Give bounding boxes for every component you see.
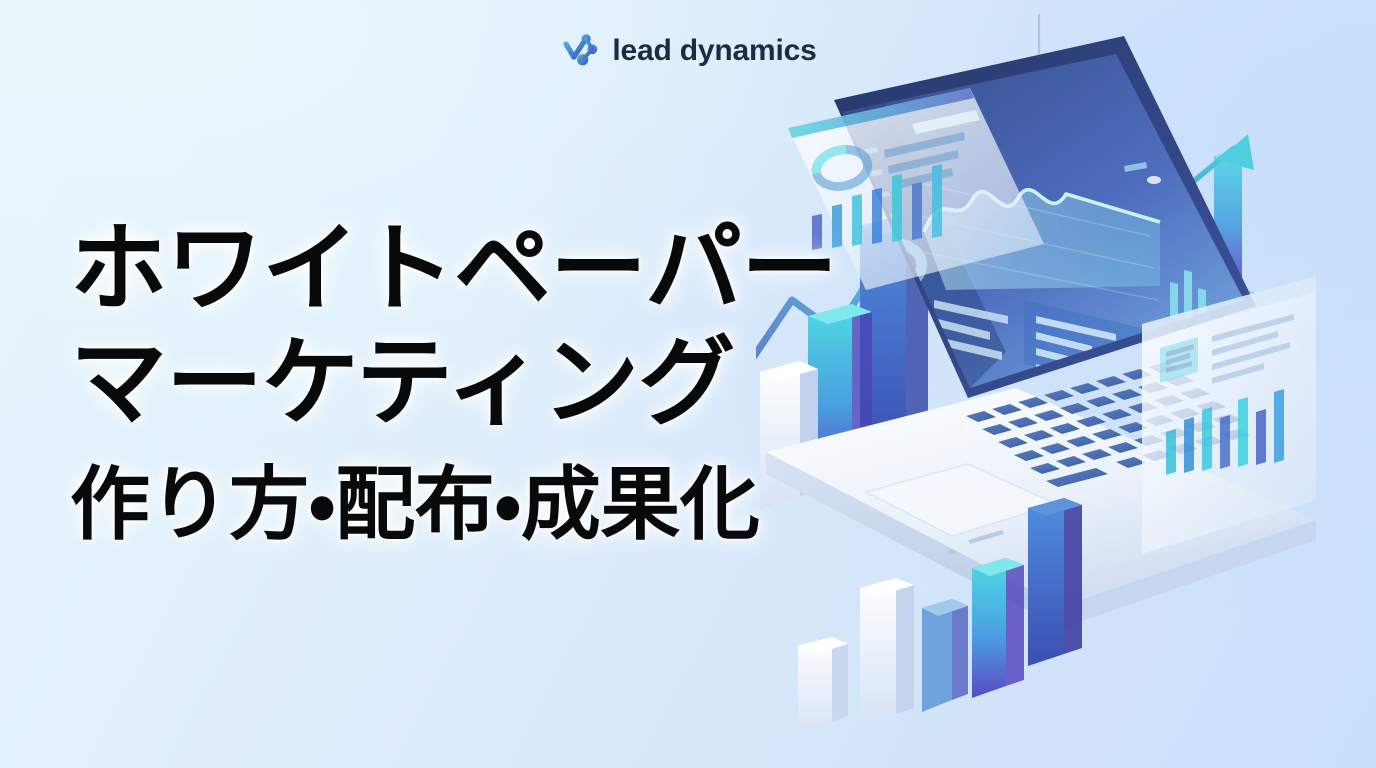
title-line-3: 作り方・配布・成果化 — [70, 459, 950, 551]
title-line-1: ホワイトペーパー — [70, 212, 950, 326]
slide-canvas: lead dynamics ホワイトペーパー マーケティング 作り方・配布・成果… — [0, 0, 1376, 768]
title-line-2: マーケティング — [70, 326, 950, 440]
network-nodes-logo-icon — [559, 30, 601, 72]
page-title: ホワイトペーパー マーケティング 作り方・配布・成果化 — [70, 212, 950, 551]
